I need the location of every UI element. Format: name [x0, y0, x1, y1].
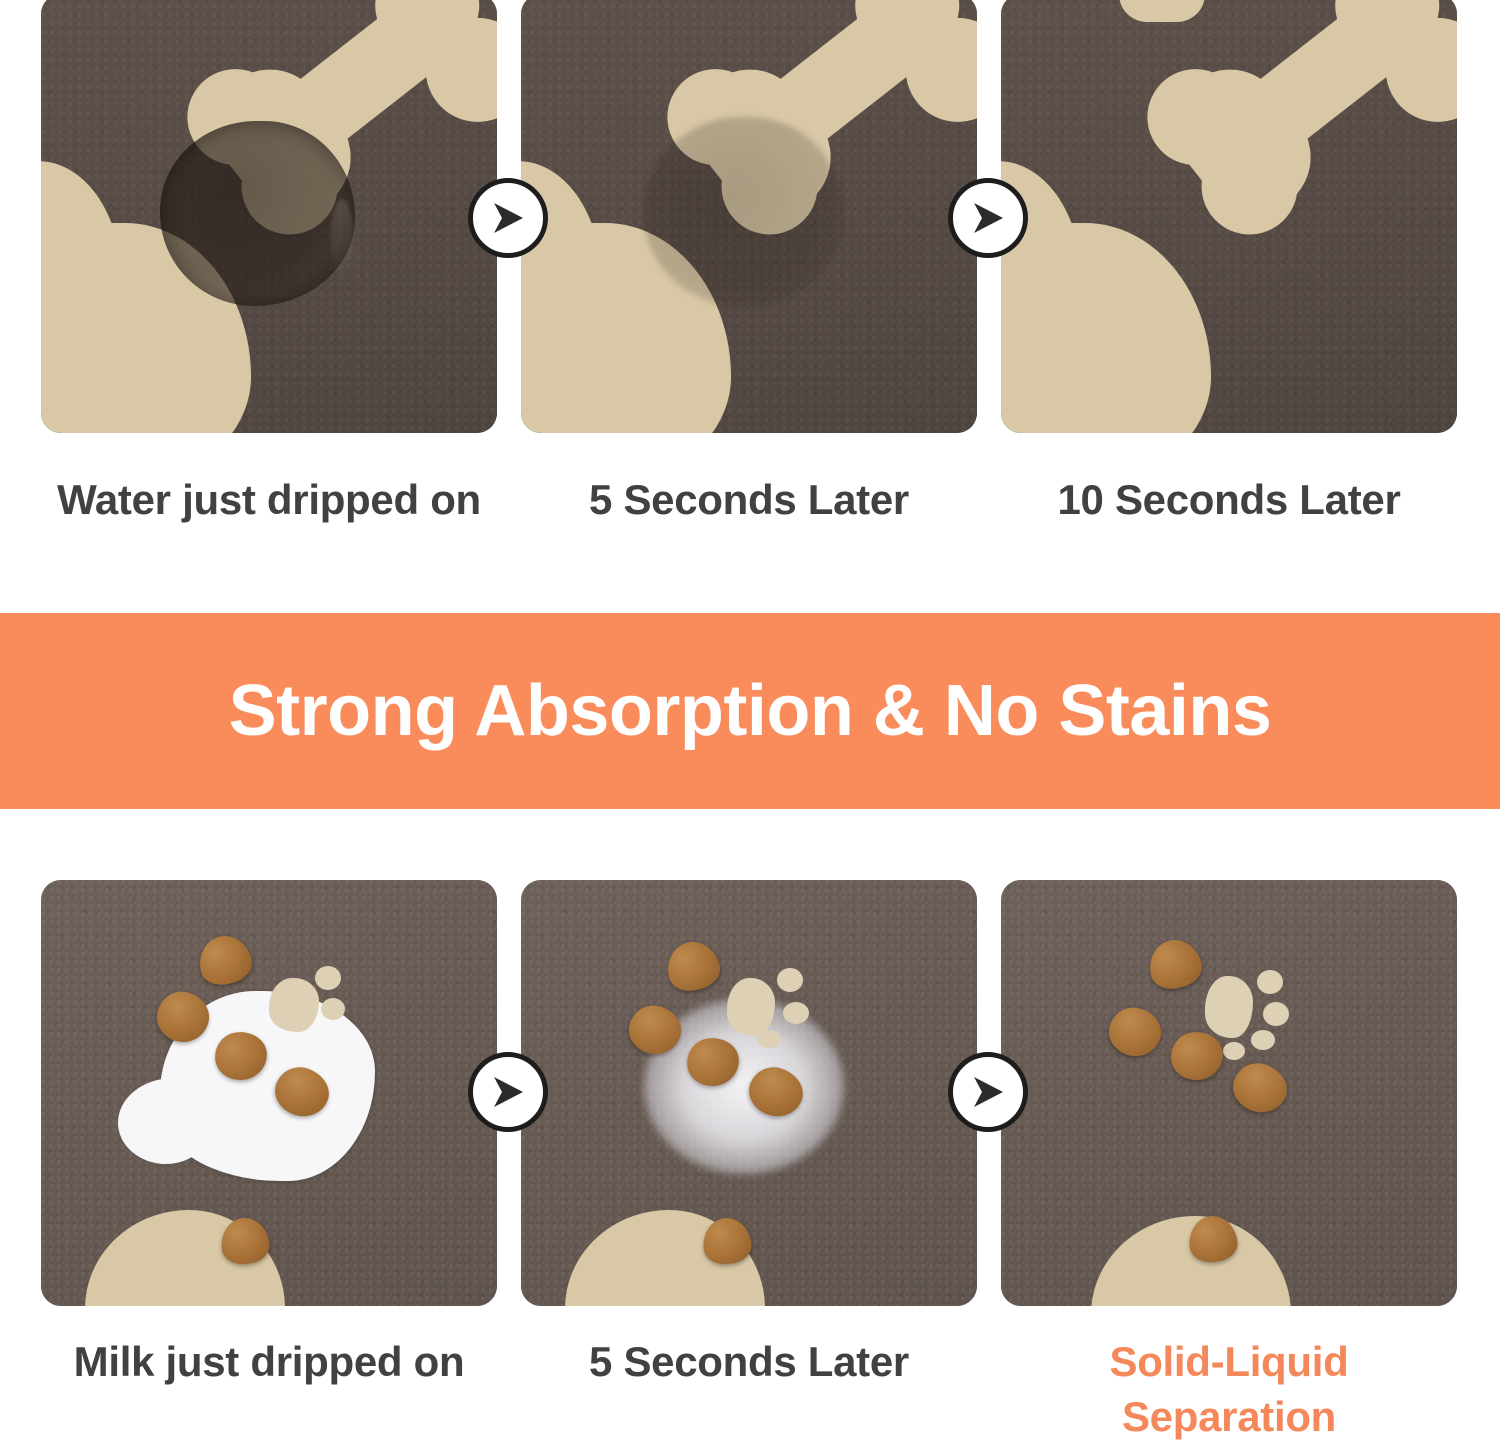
water-droplet-spot — [160, 121, 355, 306]
bottom-panel-1-image — [41, 880, 497, 1306]
headline-text: Strong Absorption & No Stains — [229, 670, 1272, 752]
chevron-right-icon — [468, 178, 548, 258]
headline-banner: Strong Absorption & No Stains — [0, 613, 1500, 809]
top-panel-2-image — [521, 0, 977, 433]
water-damp-spot — [644, 117, 844, 307]
top-caption-1: Water just dripped on — [41, 472, 497, 527]
top-caption-2: 5 Seconds Later — [521, 472, 977, 527]
bottom-caption-2: 5 Seconds Later — [521, 1334, 977, 1389]
top-caption-3: 10 Seconds Later — [1001, 472, 1457, 527]
top-panel-1-image — [41, 0, 497, 433]
top-panel-3-image — [1001, 0, 1457, 433]
bottom-row-panels — [0, 880, 1500, 1306]
chevron-right-icon — [948, 1052, 1028, 1132]
top-row-panels — [0, 0, 1500, 433]
bottom-caption-1: Milk just dripped on — [41, 1334, 497, 1389]
chevron-right-icon — [468, 1052, 548, 1132]
bottom-panel-3-image — [1001, 880, 1457, 1306]
chevron-right-icon — [948, 178, 1028, 258]
bottom-caption-3: Solid-Liquid Separation — [1001, 1334, 1457, 1445]
bottom-panel-2-image — [521, 880, 977, 1306]
